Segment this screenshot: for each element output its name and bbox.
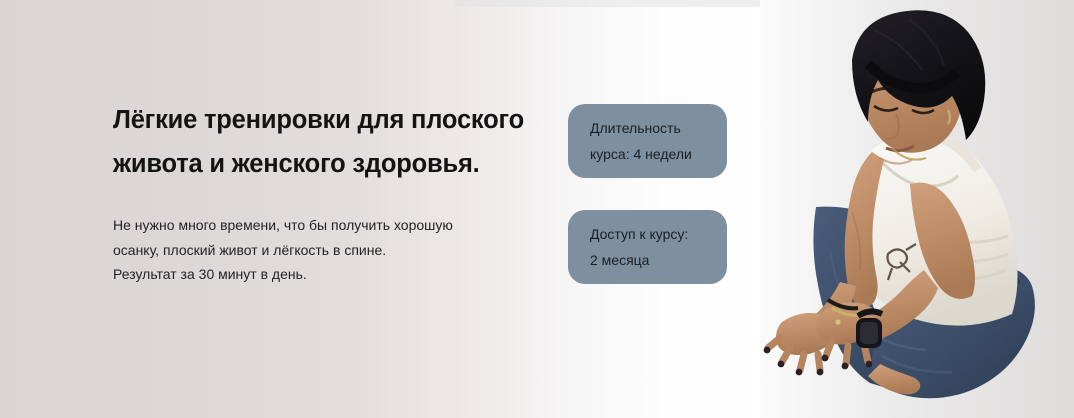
subheadline: Не нужно много времени, что бы получить … <box>113 213 543 287</box>
nail <box>817 369 824 376</box>
subheadline-line-3: Результат за 30 минут в день. <box>113 262 543 287</box>
instructor-photo <box>760 0 1074 418</box>
badge-duration-line-1: Длительность <box>590 115 715 141</box>
text-column: Лёгкие тренировки для плоского живота и … <box>113 98 543 287</box>
nail <box>866 361 873 368</box>
badge-access-line-2: 2 месяца <box>590 247 715 273</box>
ring <box>835 319 840 324</box>
nail <box>778 361 785 368</box>
subheadline-line-1: Не нужно много времени, что бы получить … <box>113 213 543 238</box>
headline-line-1: Лёгкие тренировки для <box>113 106 404 134</box>
page-title: Лёгкие тренировки для плоского живота и … <box>113 98 543 186</box>
badge-access-line-1: Доступ к курсу: <box>590 221 715 247</box>
subheadline-line-2: осанку, плоский живот и лёгкость в спине… <box>113 238 543 263</box>
nail <box>842 363 849 370</box>
nail <box>764 347 771 354</box>
info-badge-group: Длительность курса: 4 недели Доступ к ку… <box>568 104 727 284</box>
promo-banner: Лёгкие тренировки для плоского живота и … <box>0 0 1074 418</box>
badge-course-duration: Длительность курса: 4 недели <box>568 104 727 178</box>
nail <box>822 355 829 362</box>
nail <box>796 369 803 376</box>
badge-duration-line-2: курса: 4 недели <box>590 141 715 167</box>
headline-line-3: здоровья. <box>352 150 479 178</box>
badge-course-access: Доступ к курсу: 2 месяца <box>568 210 727 284</box>
